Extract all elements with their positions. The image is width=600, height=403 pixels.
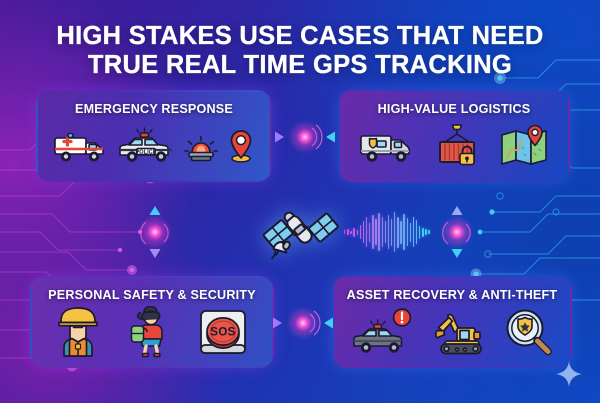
card-title-high-value-logistics: HIGH-VALUE LOGISTICS xyxy=(378,102,531,116)
page-title: HIGH STAKES USE CASES THAT NEED TRUE REA… xyxy=(0,22,600,80)
waveform-bar xyxy=(353,228,354,237)
waveform-bar xyxy=(413,217,414,247)
waveform-bar xyxy=(391,219,392,246)
connector-bottom-horizontal xyxy=(270,306,336,340)
waveform-bar xyxy=(407,218,408,246)
card-icons-emergency-response: POLICE xyxy=(38,116,270,180)
waveform-bar xyxy=(347,229,348,235)
card-icons-personal-safety-security: SOS xyxy=(32,302,272,366)
map-pin-icon xyxy=(226,125,256,167)
card-icons-high-value-logistics xyxy=(340,116,568,180)
card-emergency-response[interactable]: EMERGENCY RESPONSE xyxy=(36,90,272,182)
signal-waveform xyxy=(344,208,430,256)
waveform-bar xyxy=(425,229,426,235)
title-line-1: HIGH STAKES USE CASES THAT NEED xyxy=(56,22,543,50)
pulse-glow xyxy=(138,215,172,249)
police-car-label: POLICE xyxy=(136,149,157,155)
waveform-bar xyxy=(382,217,383,247)
waveform-bar xyxy=(375,219,376,245)
pulse-glow xyxy=(286,306,320,340)
waveform-bar xyxy=(344,230,345,234)
title-line-2: TRUE REAL TIME GPS TRACKING xyxy=(0,51,600,80)
waveform-bar xyxy=(385,221,386,243)
waveform-bar xyxy=(369,223,370,242)
card-icons-asset-recovery-anti-theft xyxy=(334,302,570,366)
card-title-emergency-response: EMERGENCY RESPONSE xyxy=(75,102,233,116)
child-backpack-icon xyxy=(127,306,171,358)
waveform-bar xyxy=(366,217,367,247)
card-asset-recovery-anti-theft[interactable]: ASSET RECOVERY & ANTI-THEFT xyxy=(332,276,572,368)
waveform-bar xyxy=(400,221,401,244)
waveform-bar xyxy=(350,231,351,234)
waveform-bar xyxy=(428,230,429,234)
pulse-glow xyxy=(440,215,474,249)
waveform-bar xyxy=(410,223,411,242)
waveform-bar xyxy=(372,215,373,249)
magnifier-badge-icon xyxy=(501,307,553,357)
locked-container-icon xyxy=(432,123,482,169)
infographic-canvas: HIGH STAKES USE CASES THAT NEED TRUE REA… xyxy=(0,0,600,403)
waveform-bar xyxy=(388,215,389,249)
satellite-icon xyxy=(262,196,340,268)
excavator-icon xyxy=(427,308,487,356)
waveform-bar xyxy=(419,226,420,239)
ambulance-icon xyxy=(52,125,108,167)
folded-map-pin-icon xyxy=(498,123,550,169)
police-car-icon: POLICE xyxy=(116,125,176,167)
construction-worker-icon xyxy=(54,307,102,357)
armored-truck-icon xyxy=(358,124,416,168)
card-personal-safety-security[interactable]: PERSONAL SAFETY & SECURITY xyxy=(30,276,274,368)
waveform-bar xyxy=(363,221,364,243)
siren-icon xyxy=(184,125,218,167)
card-title-personal-safety-security: PERSONAL SAFETY & SECURITY xyxy=(48,288,256,302)
connector-right-vertical xyxy=(440,196,474,268)
pulse-glow xyxy=(288,120,322,154)
sos-button-label: SOS xyxy=(210,327,236,339)
connector-left-vertical xyxy=(138,196,172,268)
card-title-asset-recovery-anti-theft: ASSET RECOVERY & ANTI-THEFT xyxy=(347,288,558,302)
police-car-alert-icon xyxy=(351,307,413,357)
card-high-value-logistics[interactable]: HIGH-VALUE LOGISTICS xyxy=(338,90,570,182)
waveform-bar xyxy=(422,228,423,237)
waveform-bar xyxy=(357,230,358,235)
waveform-bar xyxy=(360,225,361,239)
sparkle-icon xyxy=(556,361,582,387)
waveform-bar xyxy=(403,214,404,250)
sos-button-icon: SOS xyxy=(196,307,250,357)
waveform-bar xyxy=(378,213,379,251)
connector-top-horizontal xyxy=(272,120,338,154)
waveform-bar xyxy=(394,212,395,252)
waveform-bar xyxy=(416,220,417,244)
waveform-bar xyxy=(397,217,398,248)
